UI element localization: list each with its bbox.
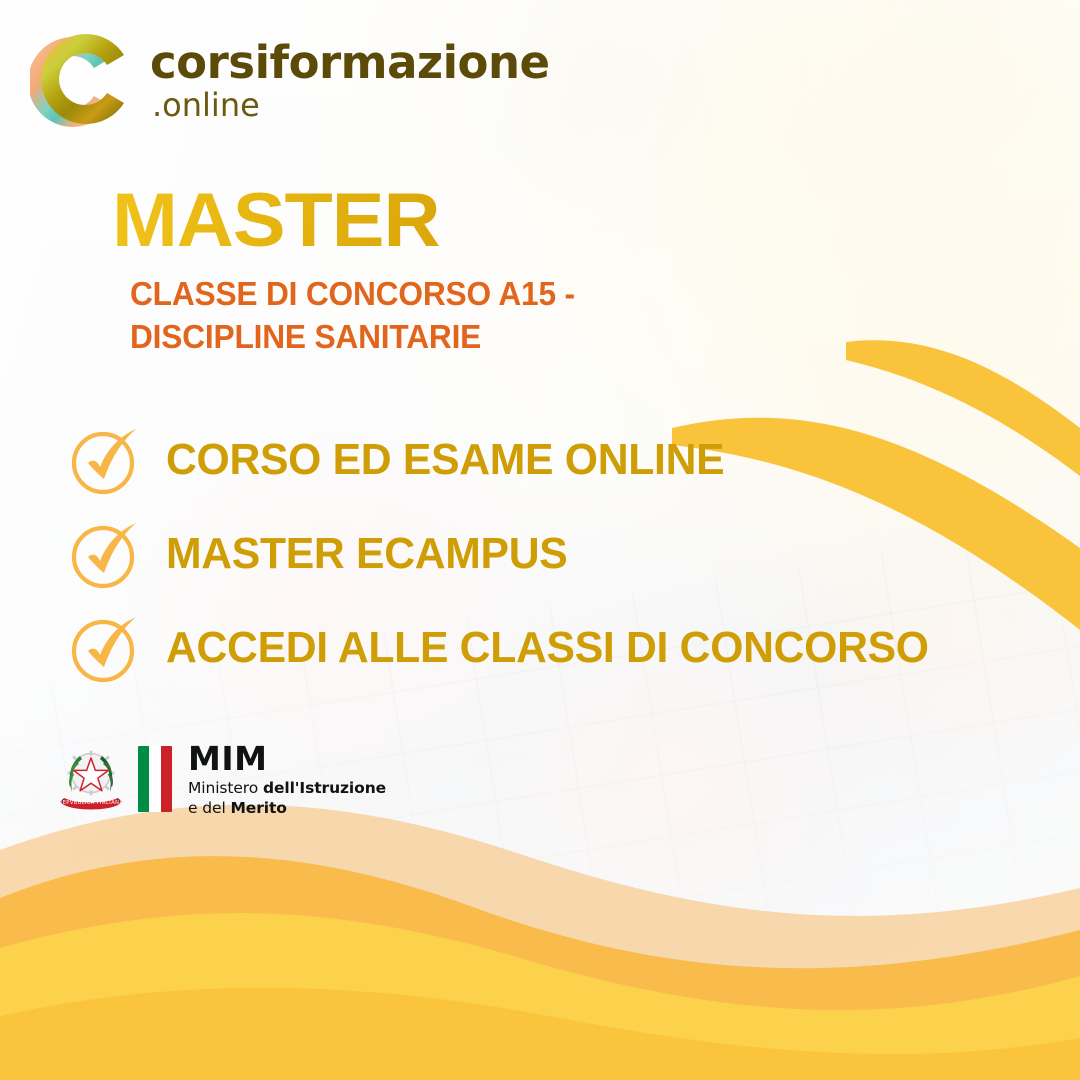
page-subtitle: CLASSE DI CONCORSO A15 - DISCIPLINE SANI… xyxy=(130,272,744,359)
list-item: CORSO ED ESAME ONLINE xyxy=(66,416,1016,504)
brand-tld: .online xyxy=(152,89,550,121)
circle-check-icon xyxy=(66,609,144,687)
list-item-label: ACCEDI ALLE CLASSI DI CONCORSO xyxy=(166,623,929,673)
italian-republic-emblem-icon: REPVBBLICA ITALIANA xyxy=(58,742,124,816)
ministry-line-1-regular: Ministero xyxy=(188,779,263,797)
circle-check-icon xyxy=(66,421,144,499)
corsiformazione-c-logo-icon xyxy=(30,28,134,132)
ministry-logo: REPVBBLICA ITALIANA MIM Ministero dell'I… xyxy=(58,742,386,816)
ministry-acronym: MIM xyxy=(188,742,386,775)
brand-name: corsiformazione xyxy=(150,40,550,85)
promo-poster: corsiformazione .online MASTER CLASSE DI… xyxy=(0,0,1080,1080)
page-title: MASTER xyxy=(112,186,882,256)
circle-check-icon xyxy=(66,515,144,593)
heading-block: MASTER CLASSE DI CONCORSO A15 - DISCIPLI… xyxy=(112,186,852,359)
ministry-line-1-bold: dell'Istruzione xyxy=(263,779,386,797)
list-item: MASTER ECAMPUS xyxy=(66,510,1016,598)
ministry-line-1: Ministero dell'Istruzione xyxy=(188,781,386,797)
svg-text:REPVBBLICA ITALIANA: REPVBBLICA ITALIANA xyxy=(59,800,124,806)
list-item-label: CORSO ED ESAME ONLINE xyxy=(166,435,724,485)
list-item: ACCEDI ALLE CLASSI DI CONCORSO xyxy=(66,604,1016,692)
ministry-text: MIM Ministero dell'Istruzione e del Meri… xyxy=(188,742,386,816)
ministry-line-2-regular: e del xyxy=(188,799,230,817)
ministry-line-2: e del Merito xyxy=(188,801,386,817)
feature-list: CORSO ED ESAME ONLINE MASTER ECAMPUS ACC… xyxy=(66,416,1016,696)
brand-logo[interactable]: corsiformazione .online xyxy=(30,28,550,132)
ministry-line-2-bold: Merito xyxy=(230,799,286,817)
brand-wordmark: corsiformazione .online xyxy=(150,40,550,121)
italian-flag-bars-icon xyxy=(138,746,172,812)
list-item-label: MASTER ECAMPUS xyxy=(166,529,567,579)
